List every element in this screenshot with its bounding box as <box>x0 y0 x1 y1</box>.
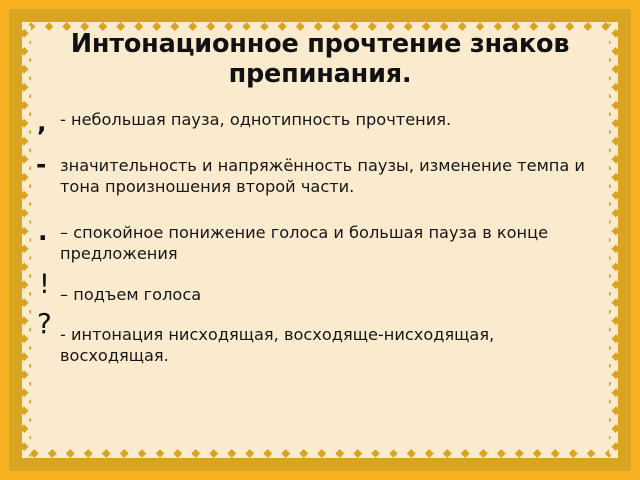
slide-content: Интонационное прочтение знаков препинани… <box>22 22 618 480</box>
period-marker-icon: . <box>38 219 48 244</box>
list-item-text: значительность и напряжённость паузы, из… <box>60 155 608 197</box>
list-item-comma: , - небольшая пауза, однотипность прочте… <box>36 109 608 130</box>
question-mark-marker-icon: ? <box>37 310 52 338</box>
page-title: Интонационное прочтение знаков препинани… <box>22 22 618 89</box>
slide: Интонационное прочтение знаков препинани… <box>0 0 640 480</box>
list-item-period: . – спокойное понижение голоса и большая… <box>36 222 608 264</box>
list-item-dash: - значительность и напряжённость паузы, … <box>36 155 608 197</box>
list-item-text: - небольшая пауза, однотипность прочтени… <box>60 109 608 130</box>
punctuation-list: , - небольшая пауза, однотипность прочте… <box>22 109 618 366</box>
list-item-text: – подъем голоса <box>60 284 608 305</box>
exclamation-mark-marker-icon: ! <box>39 271 50 298</box>
list-item-question: ? - интонация нисходящая, восходяще-нисх… <box>36 324 608 366</box>
dash-marker-icon: - <box>36 152 46 177</box>
comma-marker-icon: , <box>37 110 47 135</box>
list-item-text: - интонация нисходящая, восходяще-нисход… <box>60 324 608 366</box>
list-item-exclamation: ! – подъем голоса <box>36 284 608 305</box>
list-item-text: – спокойное понижение голоса и большая п… <box>60 222 608 264</box>
